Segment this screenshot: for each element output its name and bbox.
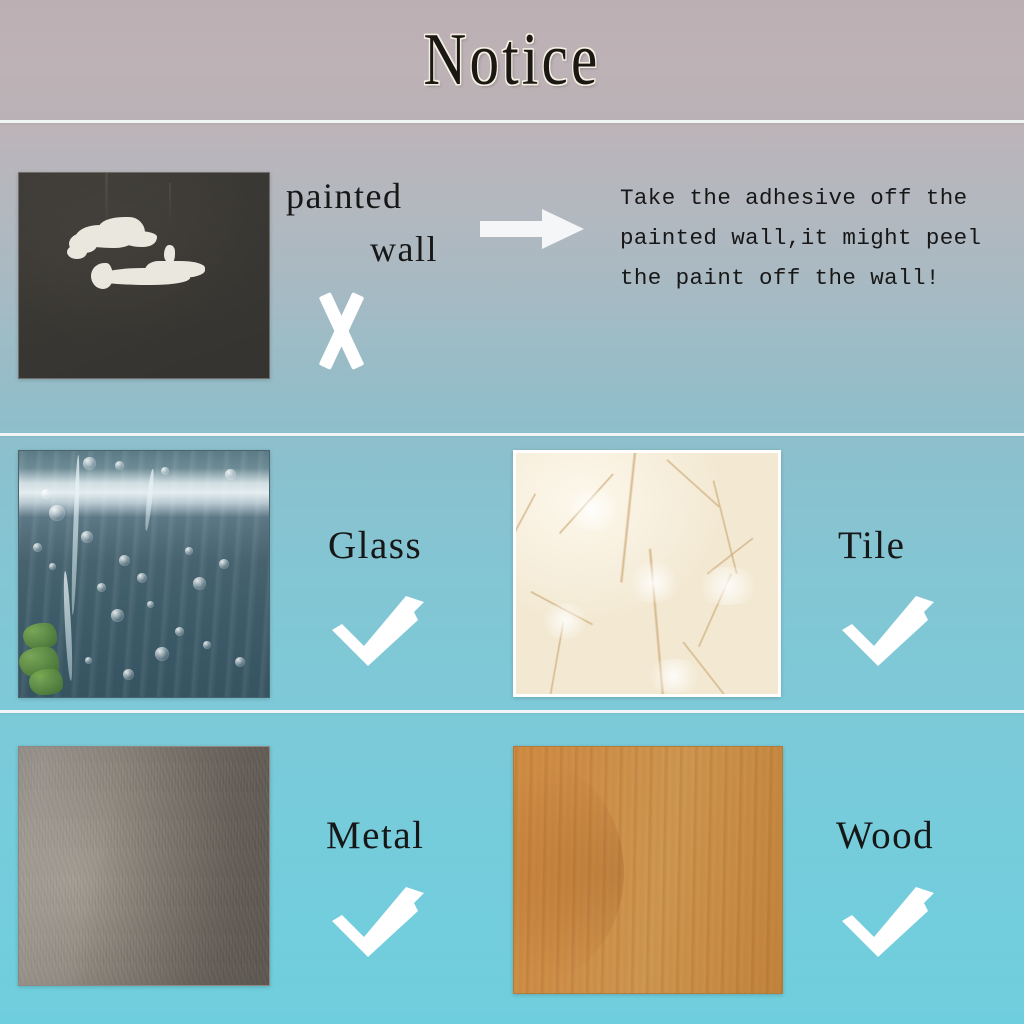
glass-label: Glass <box>328 523 422 568</box>
marble-vein <box>619 450 638 583</box>
water-droplet <box>155 647 169 661</box>
marble-blotch <box>626 563 682 603</box>
painted-wall-warning-text: Take the adhesive off the painted wall,i… <box>620 178 1020 298</box>
water-droplet <box>123 669 134 680</box>
water-droplet <box>235 657 245 667</box>
water-droplet <box>185 547 193 555</box>
painted-wall-photo <box>18 172 270 379</box>
marble-blotch <box>564 489 622 531</box>
water-droplet <box>175 627 184 636</box>
painted-wall-label: painted wall <box>286 170 486 276</box>
page-title: Notice <box>102 10 921 110</box>
water-droplet <box>161 467 169 475</box>
metal-photo <box>18 746 270 986</box>
water-droplet <box>33 543 42 552</box>
peeled-paint-patch <box>123 231 157 247</box>
water-droplet <box>49 563 56 570</box>
warning-line: the paint off the wall! <box>620 258 1020 298</box>
water-droplet <box>111 609 124 622</box>
wood-photo <box>513 746 783 994</box>
metal-label: Metal <box>326 813 424 858</box>
check-mark-icon <box>840 594 936 668</box>
section-divider-2 <box>0 433 1024 436</box>
wall-streak <box>169 183 171 235</box>
water-droplet <box>97 583 106 592</box>
wood-label: Wood <box>836 813 934 858</box>
peeled-paint-patch <box>91 263 113 289</box>
tile-photo <box>513 450 781 697</box>
notice-poster: Notice painted wall Take the adhesive of… <box>0 0 1024 1024</box>
warning-line: Take the adhesive off the <box>620 178 1020 218</box>
marble-blotch <box>694 567 762 605</box>
water-droplet <box>81 531 93 543</box>
foliage <box>23 623 57 649</box>
water-droplet <box>147 601 154 608</box>
check-mark-icon <box>330 594 426 668</box>
water-droplet <box>225 469 236 480</box>
water-droplet <box>83 457 96 470</box>
water-droplet <box>219 559 229 569</box>
glass-photo <box>18 450 270 698</box>
marble-vein <box>513 493 537 556</box>
peeled-paint-patch <box>67 245 87 259</box>
painted-wall-label-line2: wall <box>286 223 486 276</box>
painted-wall-label-line1: painted <box>286 170 486 223</box>
warning-line: painted wall,it might peel <box>620 218 1020 258</box>
water-droplet <box>41 489 51 499</box>
section-divider-1 <box>0 120 1024 123</box>
water-droplet <box>49 505 65 521</box>
water-droplet <box>137 573 147 583</box>
marble-blotch <box>644 659 704 693</box>
x-mark-icon <box>315 295 367 367</box>
arrow-right-icon <box>480 205 584 253</box>
water-droplet <box>115 461 124 470</box>
section-divider-3 <box>0 710 1024 713</box>
foliage <box>29 669 63 695</box>
water-droplet <box>193 577 206 590</box>
water-droplet <box>203 641 211 649</box>
water-droplet <box>85 657 92 664</box>
check-mark-icon <box>330 885 426 959</box>
water-droplet <box>119 555 130 566</box>
metal-sheen <box>19 747 269 985</box>
tile-label: Tile <box>838 523 905 568</box>
check-mark-icon <box>840 885 936 959</box>
peeled-paint-patch <box>145 261 205 278</box>
marble-blotch <box>540 603 590 639</box>
